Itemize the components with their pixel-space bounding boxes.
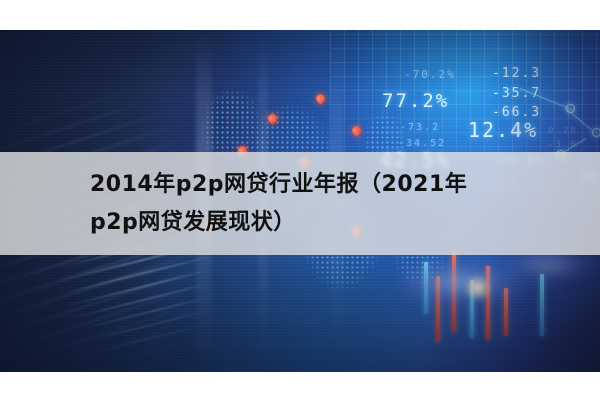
- data-value-d6: 12.4%: [468, 118, 538, 142]
- network-node-icon: [566, 104, 575, 113]
- article-banner: -70.2%77.2%-12.3-35.7-66.312.4%-73.2-34.…: [0, 0, 600, 400]
- banner-title-line-2: p2p网贷发展现状）: [90, 204, 580, 242]
- data-value-d2: 77.2%: [382, 90, 449, 112]
- data-value-d7: -73.2: [400, 122, 440, 133]
- fingertip-glow-icon: [465, 275, 491, 301]
- banner-title-line-1: 2014年p2p网贷行业年报（2021年: [90, 166, 580, 204]
- data-value-d13: 0.28: [548, 126, 578, 136]
- title-overlay-band: 2014年p2p网贷行业年报（2021年 p2p网贷发展现状）: [0, 152, 600, 255]
- data-value-d3: -12.3: [492, 66, 541, 81]
- network-node-icon: [592, 128, 600, 137]
- letterbox-band-top: [0, 0, 600, 30]
- data-value-d1: -70.2%: [404, 68, 456, 81]
- letterbox-band-bottom: [0, 372, 600, 400]
